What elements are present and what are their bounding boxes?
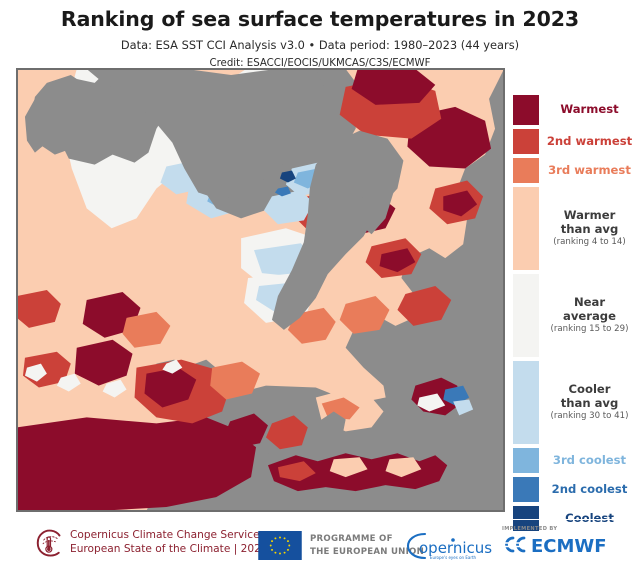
ecmwf-wordmark-icon: ECMWF	[502, 533, 610, 556]
legend-label-group: 2nd warmest	[539, 135, 640, 148]
c3s-thermometer-icon	[34, 528, 64, 558]
copernicus-name: opernicus	[419, 539, 492, 557]
legend-swatch	[513, 274, 539, 357]
copernicus-tagline: Europe's eyes on Earth	[430, 555, 477, 560]
legend-sublabel: (ranking 15 to 29)	[543, 323, 636, 335]
legend: Warmest2nd warmest3rd warmestWarmerthan …	[513, 85, 640, 485]
legend-row[interactable]: Warmest	[513, 95, 640, 125]
legend-label-group: Warmerthan avg(ranking 4 to 14)	[539, 209, 640, 248]
legend-swatch	[513, 158, 539, 183]
legend-label-group: Nearaverage(ranking 15 to 29)	[539, 296, 640, 335]
legend-sublabel: (ranking 4 to 14)	[543, 236, 636, 248]
legend-label-group: Warmest	[539, 103, 640, 116]
legend-swatch	[513, 95, 539, 125]
logo-ecmwf[interactable]: IMPLEMENTED BY ECMWF	[502, 526, 610, 560]
legend-label: 3rd warmest	[543, 164, 636, 177]
footer-divider	[0, 519, 640, 520]
legend-swatch	[513, 448, 539, 473]
legend-label: Cooler	[543, 383, 636, 396]
legend-row[interactable]: 2nd coolest	[513, 477, 640, 502]
implemented-by-label: IMPLEMENTED BY	[502, 526, 557, 532]
sst-ranking-map	[17, 69, 504, 511]
legend-row[interactable]: Warmerthan avg(ranking 4 to 14)	[513, 187, 640, 270]
legend-label: 2nd coolest	[543, 483, 636, 496]
legend-label-group: 2nd coolest	[539, 483, 640, 496]
legend-row[interactable]: 3rd warmest	[513, 158, 640, 183]
eu-flag-icon	[258, 531, 302, 560]
logo-copernicus[interactable]: opernicus Europe's eyes on Earth	[405, 530, 495, 562]
logo-european-union[interactable]: PROGRAMME OF THE EUROPEAN UNION	[258, 531, 424, 560]
c3s-wordmark: Copernicus Climate Change Service Europe…	[70, 529, 268, 557]
figure-credit: Credit: ESACCI/EOCIS/UKMCAS/C3S/ECMWF	[0, 52, 640, 69]
figure-header: Ranking of sea surface temperatures in 2…	[0, 0, 640, 69]
legend-row[interactable]: Coolerthan avg(ranking 30 to 41)	[513, 361, 640, 444]
map-panel[interactable]	[16, 68, 505, 512]
page-title: Ranking of sea surface temperatures in 2…	[0, 0, 640, 31]
legend-label: 3rd coolest	[543, 454, 636, 467]
c3s-line-2: European State of the Climate | 2023	[70, 543, 268, 557]
legend-row[interactable]: 2nd warmest	[513, 129, 640, 154]
legend-label-group: 3rd warmest	[539, 164, 640, 177]
copernicus-wordmark-icon: opernicus Europe's eyes on Earth	[405, 530, 495, 561]
legend-sublabel: (ranking 30 to 41)	[543, 410, 636, 422]
figure-subtitle: Data: ESA SST CCI Analysis v3.0 • Data p…	[0, 31, 640, 52]
legend-label: than avg	[543, 223, 636, 236]
legend-swatch	[513, 187, 539, 270]
legend-swatch	[513, 129, 539, 154]
legend-label: 2nd warmest	[543, 135, 636, 148]
legend-row[interactable]: Nearaverage(ranking 15 to 29)	[513, 274, 640, 357]
legend-swatch	[513, 361, 539, 444]
legend-label: Near	[543, 296, 636, 309]
legend-label-group: 3rd coolest	[539, 454, 640, 467]
legend-row[interactable]: 3rd coolest	[513, 448, 640, 473]
legend-label-group: Coolerthan avg(ranking 30 to 41)	[539, 383, 640, 422]
logo-copernicus-climate-change-service[interactable]: Copernicus Climate Change Service Europe…	[34, 528, 268, 558]
sst-ranking-figure: Ranking of sea surface temperatures in 2…	[0, 0, 640, 569]
legend-label: average	[543, 310, 636, 323]
legend-label: Warmer	[543, 209, 636, 222]
c3s-line-1: Copernicus Climate Change Service	[70, 529, 268, 543]
legend-swatch	[513, 477, 539, 502]
ecmwf-name: ECMWF	[531, 536, 607, 556]
legend-label: than avg	[543, 397, 636, 410]
legend-label: Warmest	[543, 103, 636, 116]
